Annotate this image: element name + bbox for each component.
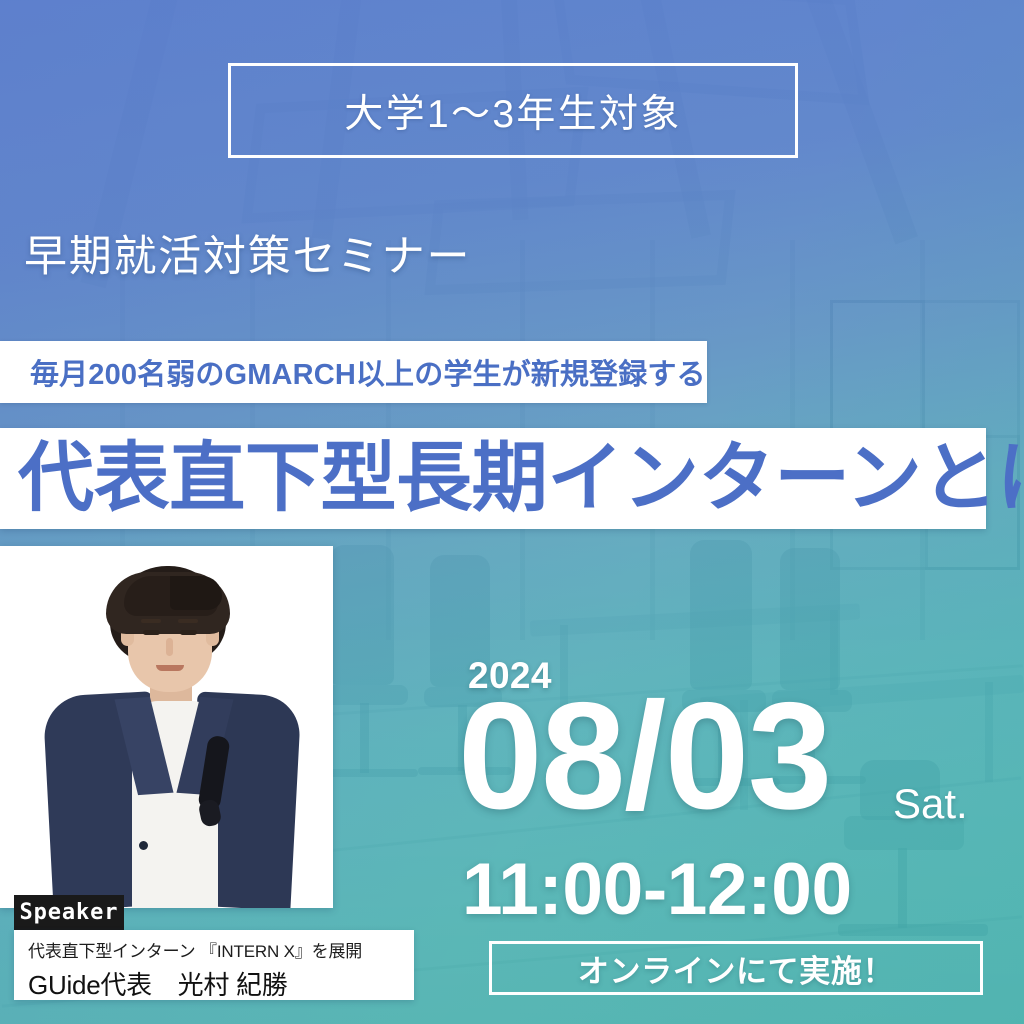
seminar-poster: 大学1〜3年生対象 早期就活対策セミナー 毎月200名弱のGMARCH以上の学生… (0, 0, 1024, 1024)
speaker-portrait-photo (0, 546, 333, 908)
target-audience-label: 大学1〜3年生対象 (344, 83, 681, 139)
speaker-info-box: 代表直下型インターン 『INTERN X』を展開 GUide代表 光村 紀勝 (14, 930, 414, 1000)
event-time: 11:00-12:00 (462, 853, 852, 926)
stat-ribbon-text: 毎月200名弱のGMARCH以上の学生が新規登録する (30, 351, 706, 393)
online-format-label: オンラインにて実施！ (578, 946, 894, 991)
seminar-title: 早期就活対策セミナー (24, 222, 471, 284)
event-date: 08/03 (458, 680, 831, 832)
speaker-tag: Speaker (14, 895, 124, 930)
speaker-name: GUide代表 光村 紀勝 (28, 965, 414, 1002)
headline-text: 代表直下型長期インターンとは (18, 441, 1024, 517)
target-audience-badge: 大学1〜3年生対象 (228, 63, 798, 158)
speaker-subtitle: 代表直下型インターン 『INTERN X』を展開 (28, 937, 414, 962)
online-format-badge: オンラインにて実施！ (489, 941, 983, 995)
stat-ribbon: 毎月200名弱のGMARCH以上の学生が新規登録する (0, 341, 707, 403)
event-day-of-week: Sat. (893, 780, 968, 828)
speaker-tag-label: Speaker (20, 900, 119, 925)
speaker-photo-panel (0, 546, 333, 908)
headline-band: 代表直下型長期インターンとは (0, 428, 986, 529)
